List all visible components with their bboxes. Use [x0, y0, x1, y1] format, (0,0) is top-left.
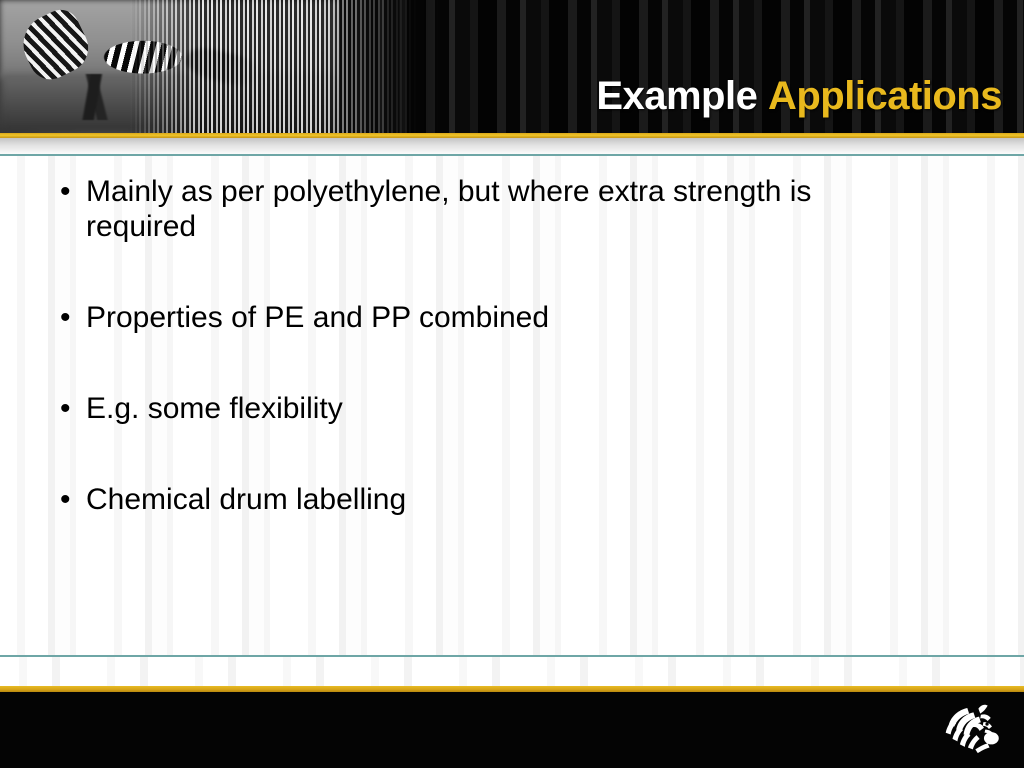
- header-gradient-fade: [0, 138, 1024, 154]
- bullet-dot-icon: •: [60, 174, 86, 209]
- page-title: Example Applications: [596, 76, 1002, 116]
- bullet-list: • Mainly as per polyethylene, but where …: [0, 156, 1024, 517]
- slide-header: Example Applications: [0, 0, 1024, 135]
- list-item-label: Mainly as per polyethylene, but where ex…: [86, 174, 890, 244]
- list-item: • E.g. some flexibility: [60, 391, 890, 426]
- page-title-main: Example: [596, 74, 757, 118]
- bullet-dot-icon: •: [60, 300, 86, 335]
- list-item: • Chemical drum labelling: [60, 482, 890, 517]
- slide-body: • Mainly as per polyethylene, but where …: [0, 156, 1024, 655]
- list-item: • Properties of PE and PP combined: [60, 300, 890, 335]
- list-item-label: Chemical drum labelling: [86, 482, 890, 517]
- bullet-dot-icon: •: [60, 482, 86, 517]
- list-item-label: Properties of PE and PP combined: [86, 300, 890, 335]
- page-title-accent: Applications: [768, 74, 1002, 118]
- list-item: • Mainly as per polyethylene, but where …: [60, 174, 890, 244]
- slide: Example Applications • Mainly as per pol…: [0, 0, 1024, 768]
- footer-white-band: [0, 657, 1024, 688]
- list-item-label: E.g. some flexibility: [86, 391, 890, 426]
- bullet-dot-icon: •: [60, 391, 86, 426]
- zebra-head-logo-icon: [940, 700, 1002, 758]
- slide-footer: [0, 692, 1024, 768]
